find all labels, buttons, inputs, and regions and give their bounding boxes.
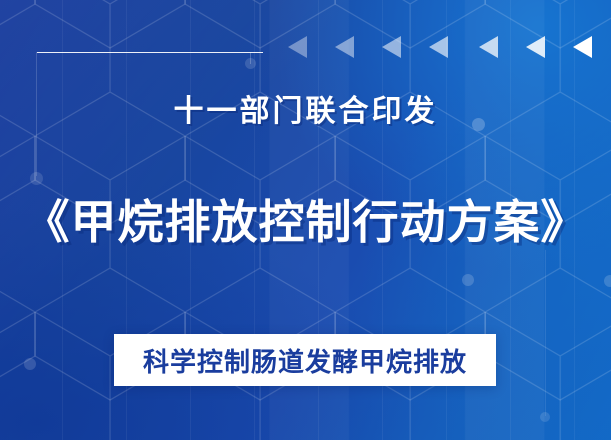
- decor-dot-5: [604, 275, 611, 287]
- arrow-left-icon-4: [429, 36, 448, 58]
- decor-connector-line-3: [545, 250, 546, 416]
- arrow-left-icon-5: [479, 36, 498, 58]
- decor-dot-6: [24, 358, 36, 370]
- decor-dot-4: [462, 274, 474, 286]
- poster-subtitle: 十一部门联合印发: [0, 86, 611, 130]
- arrow-left-icon-6: [526, 36, 545, 58]
- poster-main-title: 《甲烷排放控制行动方案》: [0, 186, 611, 252]
- arrow-left-icon-7: [573, 36, 592, 58]
- decor-connector-line-1: [250, 52, 251, 64]
- arrow-decoration-group: [288, 36, 588, 62]
- arrow-left-icon-3: [382, 36, 401, 58]
- arrow-left-icon-1: [288, 36, 307, 58]
- bottom-banner: 科学控制肠道发酵甲烷排放: [114, 334, 496, 386]
- arrow-left-icon-2: [335, 36, 354, 58]
- poster-canvas: 十一部门联合印发 《甲烷排放控制行动方案》 科学控制肠道发酵甲烷排放: [0, 0, 611, 440]
- bottom-banner-text: 科学控制肠道发酵甲烷排放: [143, 342, 467, 379]
- header-rule: [37, 52, 263, 53]
